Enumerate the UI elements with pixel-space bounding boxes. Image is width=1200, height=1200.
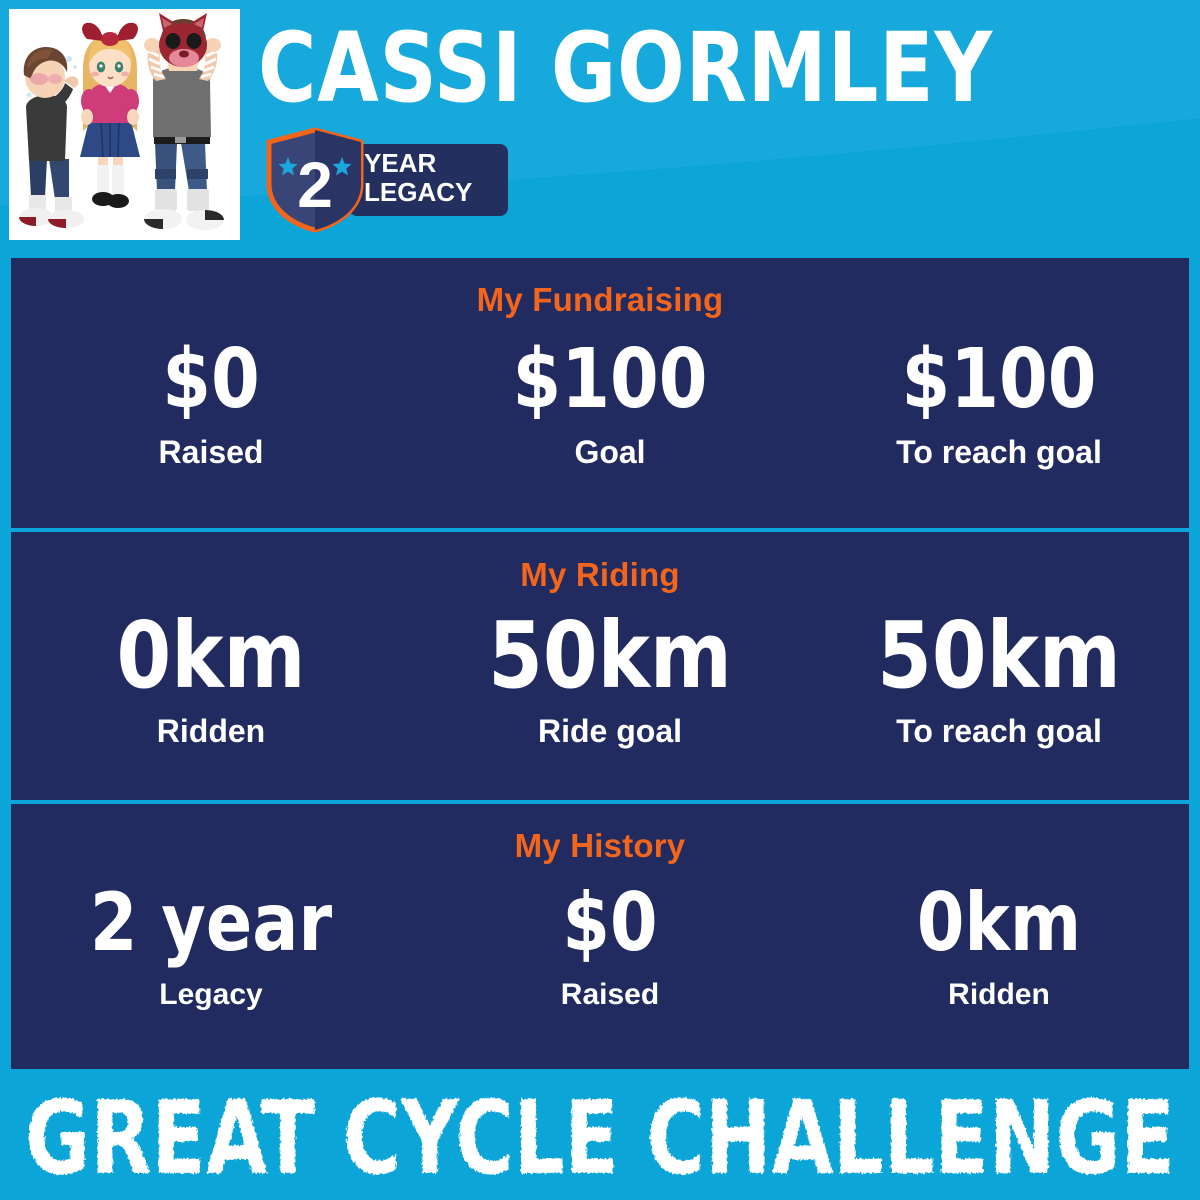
stat-ride-to-reach-goal: 50km To reach goal (809, 604, 1189, 750)
avatar-illustration (9, 9, 240, 240)
stat-value: $100 (819, 333, 1180, 427)
poster-header: CASSI GORMLEY 2 YEAR LEGACY (0, 0, 1200, 258)
stat-value: 50km (819, 604, 1180, 708)
stat-legacy: 2 year Legacy (11, 877, 411, 1013)
stat-value: 50km (421, 604, 799, 708)
stat-value: $0 (421, 877, 799, 969)
legacy-line-1: YEAR (364, 149, 514, 178)
stats-panel: My Fundraising $0 Raised $100 Goal $100 … (11, 258, 1189, 1069)
stat-label: Ridden (11, 708, 411, 750)
stat-label: Raised (411, 969, 809, 1013)
stat-value: $100 (421, 333, 799, 427)
legacy-badge: 2 YEAR LEGACY (263, 126, 508, 234)
stat-value: $0 (21, 333, 401, 427)
stat-history-raised: $0 Raised (411, 877, 809, 1013)
stat-goal: $100 Goal (411, 333, 809, 471)
stat-value: 0km (819, 877, 1180, 969)
stat-value: 2 year (21, 877, 401, 969)
stat-label: Legacy (11, 969, 411, 1013)
section-history: My History 2 year Legacy $0 Raised 0km R… (11, 800, 1189, 1065)
stats-row-history: 2 year Legacy $0 Raised 0km Ridden (11, 865, 1189, 1013)
stat-to-reach-goal: $100 To reach goal (809, 333, 1189, 471)
stat-label: Raised (11, 427, 411, 471)
stat-label: To reach goal (809, 427, 1189, 471)
fundraiser-poster: CASSI GORMLEY 2 YEAR LEGACY My F (0, 0, 1200, 1200)
stat-label: Ridden (809, 969, 1189, 1013)
stat-label: To reach goal (809, 708, 1189, 750)
section-title-riding: My Riding (11, 532, 1189, 594)
section-title-history: My History (11, 804, 1189, 865)
section-title-fundraising: My Fundraising (11, 258, 1189, 319)
shield-icon: 2 (263, 126, 367, 234)
stat-label: Ride goal (411, 708, 809, 750)
stat-history-ridden: 0km Ridden (809, 877, 1189, 1013)
stat-label: Goal (411, 427, 809, 471)
poster-footer: GREAT CYCLE CHALLENGE (0, 1069, 1200, 1200)
section-riding: My Riding 0km Ridden 50km Ride goal 50km… (11, 528, 1189, 800)
stat-raised: $0 Raised (11, 333, 411, 471)
avatar[interactable] (9, 9, 240, 240)
stat-value: 0km (21, 604, 401, 708)
legacy-plate-text: YEAR LEGACY (364, 149, 514, 207)
stats-row-fundraising: $0 Raised $100 Goal $100 To reach goal (11, 319, 1189, 471)
legacy-line-2: LEGACY (364, 178, 514, 207)
stat-ride-goal: 50km Ride goal (411, 604, 809, 750)
svg-text:2: 2 (297, 149, 333, 221)
svg-text:GREAT CYCLE CHALLENGE: GREAT CYCLE CHALLENGE (25, 1079, 1175, 1198)
stats-row-riding: 0km Ridden 50km Ride goal 50km To reach … (11, 594, 1189, 750)
stat-ridden: 0km Ridden (11, 604, 411, 750)
great-cycle-challenge-logo: GREAT CYCLE CHALLENGE (0, 1069, 1200, 1200)
page-title: CASSI GORMLEY (258, 14, 1114, 122)
section-fundraising: My Fundraising $0 Raised $100 Goal $100 … (11, 258, 1189, 528)
